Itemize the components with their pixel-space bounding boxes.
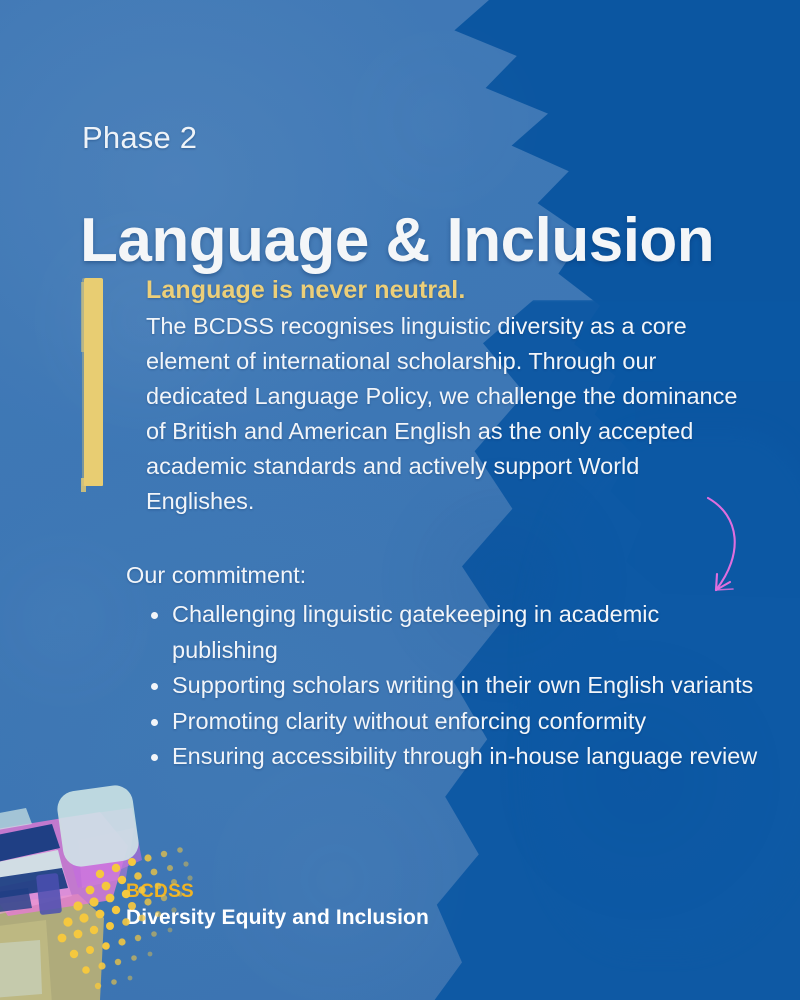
poster-content: Phase 2 Language & Inclusion Language is… — [0, 0, 800, 1000]
lead-body-text: The BCDSS recognises linguistic diversit… — [146, 309, 752, 519]
list-item: Supporting scholars writing in their own… — [126, 668, 766, 704]
lead-headline: Language is never neutral. — [146, 276, 752, 305]
poster-canvas: Phase 2 Language & Inclusion Language is… — [0, 0, 800, 1000]
commitment-block: Our commitment: Challenging linguistic g… — [126, 559, 766, 775]
brand-org-name: BCDSS — [126, 880, 429, 904]
list-item: Promoting clarity without enforcing conf… — [126, 704, 766, 740]
gold-accent-bar — [84, 278, 103, 486]
list-item: Challenging linguistic gatekeeping in ac… — [126, 597, 766, 668]
commitment-label: Our commitment: — [126, 559, 766, 592]
commitment-list: Challenging linguistic gatekeeping in ac… — [126, 597, 766, 775]
page-title: Language & Inclusion — [80, 210, 714, 272]
brand-lockup: BCDSS Diversity Equity and Inclusion — [126, 880, 429, 931]
phase-eyebrow: Phase 2 — [82, 120, 197, 156]
lead-block: Language is never neutral. The BCDSS rec… — [146, 276, 752, 519]
brand-unit-name: Diversity Equity and Inclusion — [126, 904, 429, 931]
collage-shapes — [0, 783, 142, 1000]
list-item: Ensuring accessibility through in-house … — [126, 739, 766, 775]
